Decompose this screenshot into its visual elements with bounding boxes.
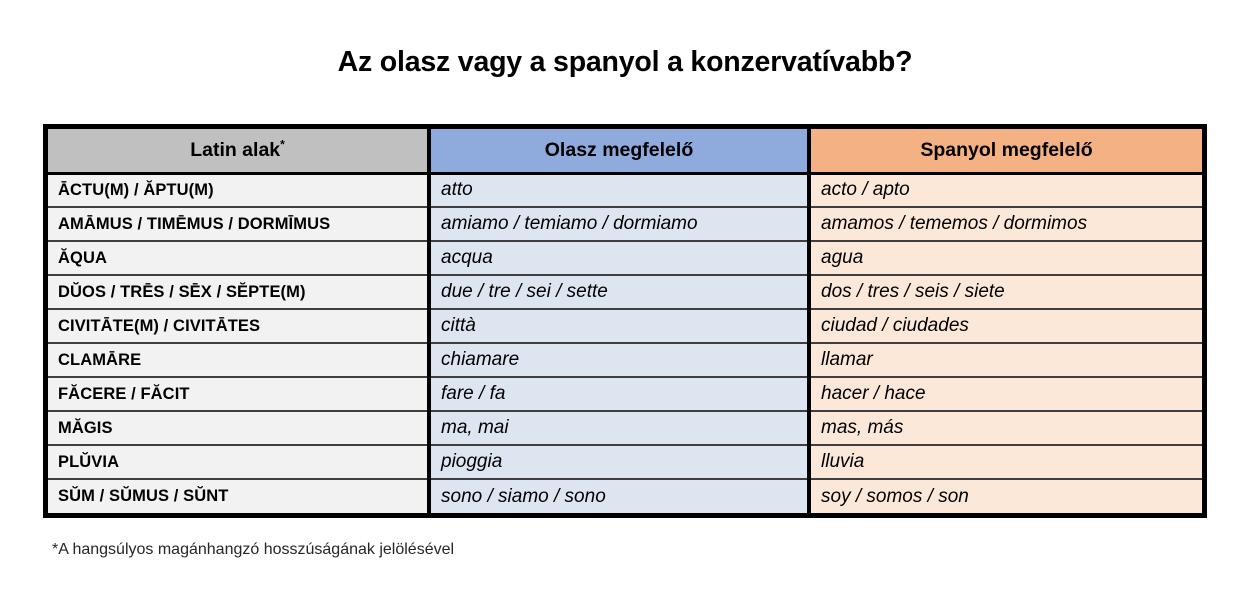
table-body: ĀCTU(M) / ĂPTU(M)attoacto / aptoAMĀMUS /… xyxy=(48,173,1202,513)
cell-latin: ĂQUA xyxy=(48,241,429,275)
cell-italian: pioggia xyxy=(429,445,809,479)
cell-spanish: agua xyxy=(809,241,1202,275)
cell-spanish: acto / apto xyxy=(809,173,1202,207)
table-row: CLAMĀREchiamarellamar xyxy=(48,343,1202,377)
cell-italian: due / tre / sei / sette xyxy=(429,275,809,309)
cell-latin: SŬM / SŬMUS / SŬNT xyxy=(48,479,429,513)
table-row: DŬOS / TRĒS / SĒX / SĔPTE(M)due / tre / … xyxy=(48,275,1202,309)
slide-root: Az olasz vagy a spanyol a konzervatívabb… xyxy=(0,0,1250,600)
cell-italian: sono / siamo / sono xyxy=(429,479,809,513)
cell-latin: AMĀMUS / TIMĒMUS / DORMĪMUS xyxy=(48,207,429,241)
cell-spanish: llamar xyxy=(809,343,1202,377)
table-header-row: Latin alak* Olasz megfelelő Spanyol megf… xyxy=(48,129,1202,173)
table-row: SŬM / SŬMUS / SŬNTsono / siamo / sonosoy… xyxy=(48,479,1202,513)
cell-latin: DŬOS / TRĒS / SĒX / SĔPTE(M) xyxy=(48,275,429,309)
cell-italian: ma, mai xyxy=(429,411,809,445)
table-row: CIVITĀTE(M) / CIVITĀTEScittàciudad / ciu… xyxy=(48,309,1202,343)
column-header-latin: Latin alak* xyxy=(48,129,429,173)
cell-latin: CIVITĀTE(M) / CIVITĀTES xyxy=(48,309,429,343)
cell-latin: CLAMĀRE xyxy=(48,343,429,377)
cell-italian: città xyxy=(429,309,809,343)
cell-italian: atto xyxy=(429,173,809,207)
cell-spanish: lluvia xyxy=(809,445,1202,479)
table-row: ĀCTU(M) / ĂPTU(M)attoacto / apto xyxy=(48,173,1202,207)
cell-spanish: soy / somos / son xyxy=(809,479,1202,513)
comparison-table: Latin alak* Olasz megfelelő Spanyol megf… xyxy=(48,129,1202,513)
cell-spanish: mas, más xyxy=(809,411,1202,445)
column-header-italian: Olasz megfelelő xyxy=(429,129,809,173)
cell-spanish: ciudad / ciudades xyxy=(809,309,1202,343)
table-row: MĂGISma, maimas, más xyxy=(48,411,1202,445)
table-row: ĂQUAacquaagua xyxy=(48,241,1202,275)
column-header-latin-label: Latin alak xyxy=(190,139,280,161)
table-row: FĂCERE / FĂCITfare / fahacer / hace xyxy=(48,377,1202,411)
column-header-spanish: Spanyol megfelelő xyxy=(809,129,1202,173)
cell-latin: MĂGIS xyxy=(48,411,429,445)
cell-latin: FĂCERE / FĂCIT xyxy=(48,377,429,411)
table-header: Latin alak* Olasz megfelelő Spanyol megf… xyxy=(48,129,1202,173)
table-row: PLŬVIApioggialluvia xyxy=(48,445,1202,479)
cell-latin: PLŬVIA xyxy=(48,445,429,479)
footnote-marker: * xyxy=(280,137,285,151)
footnote-text: *A hangsúlyos magánhangzó hosszúságának … xyxy=(52,541,454,559)
cell-italian: acqua xyxy=(429,241,809,275)
cell-latin: ĀCTU(M) / ĂPTU(M) xyxy=(48,173,429,207)
cell-spanish: dos / tres / seis / siete xyxy=(809,275,1202,309)
cell-italian: chiamare xyxy=(429,343,809,377)
cell-italian: fare / fa xyxy=(429,377,809,411)
cell-spanish: amamos / tememos / dormimos xyxy=(809,207,1202,241)
cell-italian: amiamo / temiamo / dormiamo xyxy=(429,207,809,241)
cell-spanish: hacer / hace xyxy=(809,377,1202,411)
comparison-table-container: Latin alak* Olasz megfelelő Spanyol megf… xyxy=(43,124,1207,518)
page-title: Az olasz vagy a spanyol a konzervatívabb… xyxy=(0,46,1250,79)
table-row: AMĀMUS / TIMĒMUS / DORMĪMUSamiamo / temi… xyxy=(48,207,1202,241)
